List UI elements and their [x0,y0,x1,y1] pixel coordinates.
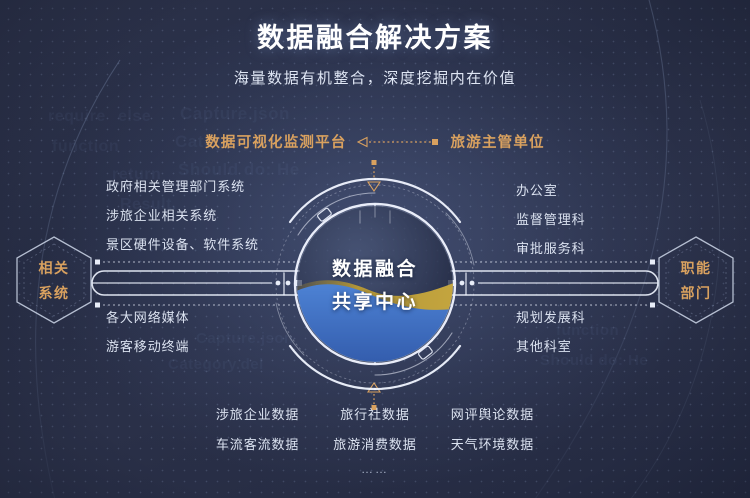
left-source-list-bottom: 各大网络媒体 游客移动终端 [106,311,189,353]
bg-word: Capture.json [180,104,290,124]
hub-line-2: 共享中心 [332,287,418,314]
badge-line-2: 系统 [39,283,70,303]
data-item: 旅行社数据 [340,408,410,421]
top-label-row: 数据可视化监测平台 旅游主管单位 [0,131,750,152]
bg-word: require [48,108,106,126]
top-arrow-icon [368,160,380,191]
right-department-list-top: 办公室 监督管理科 审批服务科 [516,184,586,255]
list-item: 其他科室 [516,340,586,353]
left-source-list-top: 政府相关管理部门系统 涉旅企业相关系统 景区硬件设备、软件系统 [106,180,259,251]
list-item: 游客移动终端 [106,340,189,353]
hub-line-1: 数据融合 [332,254,418,281]
page-subtitle: 海量数据有机整合，深度挖掘内在价值 [0,67,750,88]
data-item: 网评舆论数据 [451,408,534,421]
platform-label: 数据可视化监测平台 [205,131,346,152]
bg-word: else [118,108,151,126]
bottom-arrow-icon [368,383,380,410]
header: 数据融合解决方案 海量数据有机整合，深度挖掘内在价值 [0,22,750,88]
data-fusion-hub: 数据融合 共享中心 [295,204,455,364]
related-systems-badge: 相关 系统 [12,234,96,326]
authority-label: 旅游主管单位 [451,131,545,152]
list-item: 监督管理科 [516,213,586,226]
badge-line-2: 部门 [681,283,712,303]
list-item: 审批服务科 [516,242,586,255]
badge-line-1: 职能 [681,258,712,278]
data-item: 旅游消费数据 [333,438,416,451]
data-item: 涉旅企业数据 [216,408,299,421]
badge-line-1: 相关 [39,258,70,278]
data-item: 天气环境数据 [451,438,534,451]
bg-word: Category.del [168,356,264,373]
data-item: 车流客流数据 [216,438,299,451]
data-column-3: 网评舆论数据 天气环境数据 [451,408,534,451]
list-item: 规划发展科 [516,311,586,324]
data-column-2: 旅行社数据 旅游消费数据 [333,408,416,451]
bg-word: Capture.json [196,330,294,347]
list-item: 各大网络媒体 [106,311,189,324]
function-departments-badge: 职能 部门 [654,234,738,326]
data-ellipsis: …… [0,462,750,476]
list-item: 办公室 [516,184,586,197]
list-item: 政府相关管理部门系统 [106,180,259,193]
data-column-1: 涉旅企业数据 车流客流数据 [216,408,299,451]
bg-word: Should do: He [178,160,300,180]
bg-word: Should do: He [540,352,648,369]
bottom-data-grid: 涉旅企业数据 车流客流数据 旅行社数据 旅游消费数据 网评舆论数据 天气环境数据 [0,408,750,451]
list-item: 涉旅企业相关系统 [106,209,259,222]
list-item: 景区硬件设备、软件系统 [106,238,259,251]
right-department-list-bottom: 规划发展科 其他科室 [516,311,586,353]
page-title: 数据融合解决方案 [0,22,750,54]
infographic-canvas: Capture.json Category.del Should do: He … [0,0,750,498]
dotted-arrow-left-icon [357,135,441,149]
